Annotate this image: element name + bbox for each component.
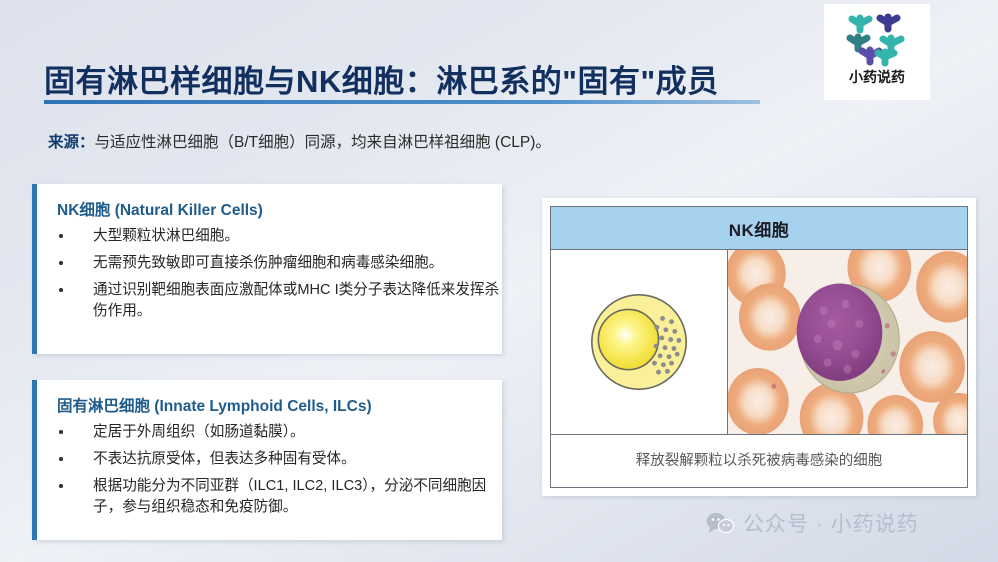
figure-caption: 释放裂解颗粒以杀死被病毒感染的细胞	[551, 435, 967, 487]
logo-brand-text: 小药说药	[849, 70, 905, 84]
brand-logo: 小药说药	[824, 4, 930, 100]
micrograph-image	[728, 250, 967, 434]
list-item: 不表达抗原受体，但表达多种固有受体。	[57, 449, 502, 470]
card-innate-lymphoid-cells: 固有淋巴细胞 (Innate Lymphoid Cells, ILCs) 定居于…	[32, 380, 502, 540]
watermark-text: 公众号 · 小药说药	[743, 508, 919, 538]
figure-inner-frame: NK细胞	[550, 206, 968, 488]
list-item: 定居于外周组织（如肠道黏膜）。	[57, 422, 502, 443]
wechat-icon	[706, 512, 734, 534]
source-label: 来源：	[48, 134, 95, 151]
wechat-watermark: 公众号 · 小药说药	[706, 508, 919, 538]
card-heading-ilc: 固有淋巴细胞 (Innate Lymphoid Cells, ILCs)	[57, 394, 502, 416]
list-item: 通过识别靶细胞表面应激配体或MHC I类分子表达降低来发挥杀伤作用。	[57, 280, 502, 322]
nk-cell-drawing	[578, 281, 700, 403]
nk-cell-schematic-icon	[551, 250, 728, 434]
page-title: 固有淋巴样细胞与NK细胞：淋巴系的"固有"成员	[44, 56, 719, 101]
list-item: 大型颗粒状淋巴细胞。	[57, 226, 502, 247]
figure-panel: NK细胞	[542, 198, 976, 496]
blood-smear-micrograph	[728, 250, 967, 434]
bullet-list-ilc: 定居于外周组织（如肠道黏膜）。 不表达抗原受体，但表达多种固有受体。 根据功能分…	[37, 422, 502, 519]
card-nk-cells: NK细胞 (Natural Killer Cells) 大型颗粒状淋巴细胞。 无…	[32, 184, 502, 354]
molecule-logo-icon	[846, 10, 908, 68]
title-underline	[44, 100, 760, 104]
figure-body	[551, 250, 967, 435]
figure-header-title: NK细胞	[551, 207, 967, 250]
bullet-list-nk: 大型颗粒状淋巴细胞。 无需预先致敏即可直接杀伤肿瘤细胞和病毒感染细胞。 通过识别…	[37, 226, 502, 323]
list-item: 无需预先致敏即可直接杀伤肿瘤细胞和病毒感染细胞。	[57, 253, 502, 274]
source-line: 来源：与适应性淋巴细胞（B/T细胞）同源，均来自淋巴样祖细胞 (CLP)。	[48, 130, 551, 152]
list-item: 根据功能分为不同亚群（ILC1, ILC2, ILC3），分泌不同细胞因子，参与…	[57, 476, 502, 518]
card-heading-nk: NK细胞 (Natural Killer Cells)	[57, 198, 502, 220]
source-text: 与适应性淋巴细胞（B/T细胞）同源，均来自淋巴样祖细胞 (CLP)。	[95, 134, 551, 151]
